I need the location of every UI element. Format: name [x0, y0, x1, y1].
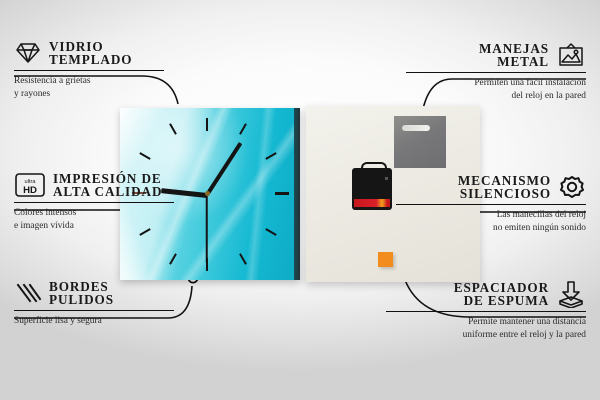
feature-title-line1: BORDES	[49, 280, 114, 293]
feature-rule	[14, 70, 164, 71]
picture-hanger-icon	[556, 42, 586, 68]
hands-center-pin	[205, 191, 210, 196]
feature-desc: Las manecillas del reloj no emiten ningú…	[396, 209, 586, 234]
feature-rule	[406, 72, 586, 73]
clock-mechanism-box	[352, 168, 392, 210]
feature-espaciador-de-espuma: ESPACIADOR DE ESPUMA Permite mantener un…	[386, 280, 586, 341]
diamond-icon	[14, 41, 42, 65]
feature-rule	[14, 202, 174, 203]
hanger-slot	[402, 125, 430, 131]
infographic-canvas: VIDRIO TEMPLADO Resistencia a grietas y …	[0, 0, 600, 400]
feature-desc: Colores intensos e imagen vívida	[14, 207, 174, 232]
feature-desc: Superficie lisa y segura	[14, 315, 174, 327]
feature-desc: Resistencia a grietas y rayones	[14, 75, 164, 100]
mechanism-label-strip	[354, 199, 390, 207]
svg-text:HD: HD	[23, 185, 37, 196]
feature-title-line1: VIDRIO	[49, 40, 132, 53]
feature-manejas-metal: MANEJAS METAL Permiten una fácil instala…	[406, 42, 586, 102]
feature-title-line2: SILENCIOSO	[458, 187, 551, 200]
feature-title-line1: MANEJAS	[479, 42, 549, 55]
tick-mark	[206, 118, 208, 131]
clock-side-edge	[294, 108, 300, 280]
feature-vidrio-templado: VIDRIO TEMPLADO Resistencia a grietas y …	[14, 40, 164, 100]
orange-foam-spacer	[378, 252, 393, 267]
feature-rule	[14, 310, 174, 311]
second-hand	[206, 195, 208, 263]
mechanism-loop	[361, 162, 387, 173]
feature-desc: Permite mantener una distancia uniforme …	[386, 316, 586, 341]
feature-mecanismo-silencioso: MECANISMO SILENCIOSO Las manecillas del …	[396, 174, 586, 234]
gear-icon	[558, 174, 586, 200]
feature-title-line1: MECANISMO	[458, 174, 551, 187]
feature-title-line2: TEMPLADO	[49, 53, 132, 66]
mechanism-dot	[385, 177, 388, 180]
tick-mark	[275, 192, 289, 195]
ultra-hd-icon: ultra HD	[14, 172, 46, 198]
feature-title-line1: IMPRESIÓN DE	[53, 172, 162, 185]
feature-impresion-alta-calidad: ultra HD IMPRESIÓN DE ALTA CALIDAD Color…	[14, 172, 174, 232]
feature-rule	[386, 311, 586, 312]
feature-rule	[396, 204, 586, 205]
feature-title-line2: DE ESPUMA	[454, 294, 549, 307]
feature-title-line2: METAL	[479, 55, 549, 68]
feature-title-line2: PULIDOS	[49, 293, 114, 306]
foam-spacer-icon	[556, 280, 586, 308]
feature-bordes-pulidos: BORDES PULIDOS Superficie lisa y segura	[14, 280, 174, 328]
polished-edges-icon	[14, 281, 42, 305]
metal-hanger-plate	[394, 116, 446, 168]
feature-desc: Permiten una fácil instalación del reloj…	[406, 77, 586, 102]
feature-title-line1: ESPACIADOR	[454, 281, 549, 294]
feature-title-line2: ALTA CALIDAD	[53, 185, 162, 198]
